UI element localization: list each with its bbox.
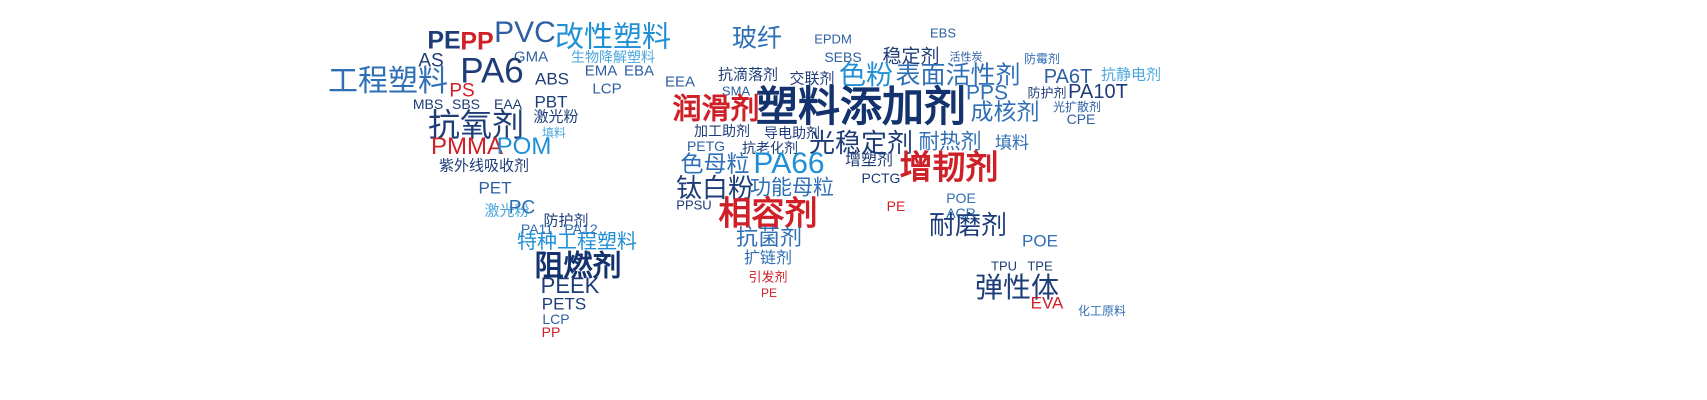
word-cloud-term[interactable]: PP (542, 325, 561, 339)
word-cloud-term[interactable]: 扩链剂 (744, 251, 792, 267)
word-cloud-term[interactable]: PA10T (1068, 82, 1128, 102)
word-cloud-term[interactable]: 润滑剂 (672, 96, 759, 125)
word-cloud-term[interactable]: 工程塑料 (328, 67, 448, 97)
word-cloud-term[interactable]: 增塑剂 (845, 153, 893, 169)
word-cloud-term[interactable]: PET (478, 180, 511, 197)
word-cloud-term[interactable]: PC (509, 199, 535, 218)
word-cloud-term[interactable]: 塑料添加剂 (756, 86, 966, 128)
word-cloud-term[interactable]: PETS (542, 296, 586, 313)
word-cloud-term[interactable]: PE (887, 199, 906, 213)
word-cloud-term[interactable]: 特种工程塑料 (517, 232, 637, 252)
word-cloud-term[interactable]: EVA (1031, 295, 1064, 312)
word-cloud-term[interactable]: PMMA (431, 135, 503, 159)
word-cloud-term[interactable]: 激光粉 (533, 110, 578, 125)
word-cloud-term[interactable]: TPU (991, 260, 1017, 273)
word-cloud-term[interactable]: PE (761, 287, 777, 299)
word-cloud-term[interactable]: POM (497, 135, 552, 159)
word-cloud-term[interactable]: EBA (624, 64, 654, 79)
word-cloud-term[interactable]: EMA (585, 64, 618, 79)
word-cloud-term[interactable]: ABS (535, 71, 569, 88)
word-cloud-term[interactable]: 填料 (995, 135, 1029, 152)
word-cloud-term[interactable]: PPSU (676, 199, 711, 212)
word-cloud-term[interactable]: PVC (494, 18, 556, 48)
word-cloud-term[interactable]: 玻纤 (732, 27, 782, 52)
word-cloud-term[interactable]: PA66 (753, 149, 824, 179)
word-cloud-term[interactable]: EBS (930, 27, 956, 40)
word-cloud-term[interactable]: 抗菌剂 (736, 227, 802, 249)
word-cloud-term[interactable]: TPE (1027, 260, 1052, 273)
word-cloud-term[interactable]: 化工原料 (1078, 305, 1126, 317)
word-cloud-term[interactable]: 抗滴落剂 (718, 68, 778, 83)
word-cloud-canvas: PEPPPVC改性塑料玻纤EPDMEBSGMAAS生物降解塑料SEBS稳定剂活性… (0, 0, 1707, 400)
word-cloud-term[interactable]: 紫外线吸收剂 (439, 159, 529, 174)
word-cloud-term[interactable]: 防霉剂 (1024, 53, 1060, 65)
word-cloud-term[interactable]: LCP (592, 82, 621, 97)
word-cloud-term[interactable]: 成核剂 (971, 101, 1040, 124)
word-cloud-term[interactable]: 增韧剂 (900, 151, 999, 184)
word-cloud-term[interactable]: 引发剂 (748, 271, 787, 284)
word-cloud-term[interactable]: POE (1022, 233, 1058, 250)
word-cloud-term[interactable]: EEA (665, 75, 695, 90)
word-cloud-term[interactable]: 加工助剂 (694, 124, 750, 138)
word-cloud-term[interactable]: PCTG (862, 171, 901, 185)
word-cloud-term[interactable]: EPDM (814, 33, 852, 46)
word-cloud-term[interactable]: 耐磨剂 (929, 212, 1007, 238)
word-cloud-term[interactable]: CPE (1067, 112, 1096, 126)
word-cloud-term[interactable]: POE (946, 191, 976, 205)
